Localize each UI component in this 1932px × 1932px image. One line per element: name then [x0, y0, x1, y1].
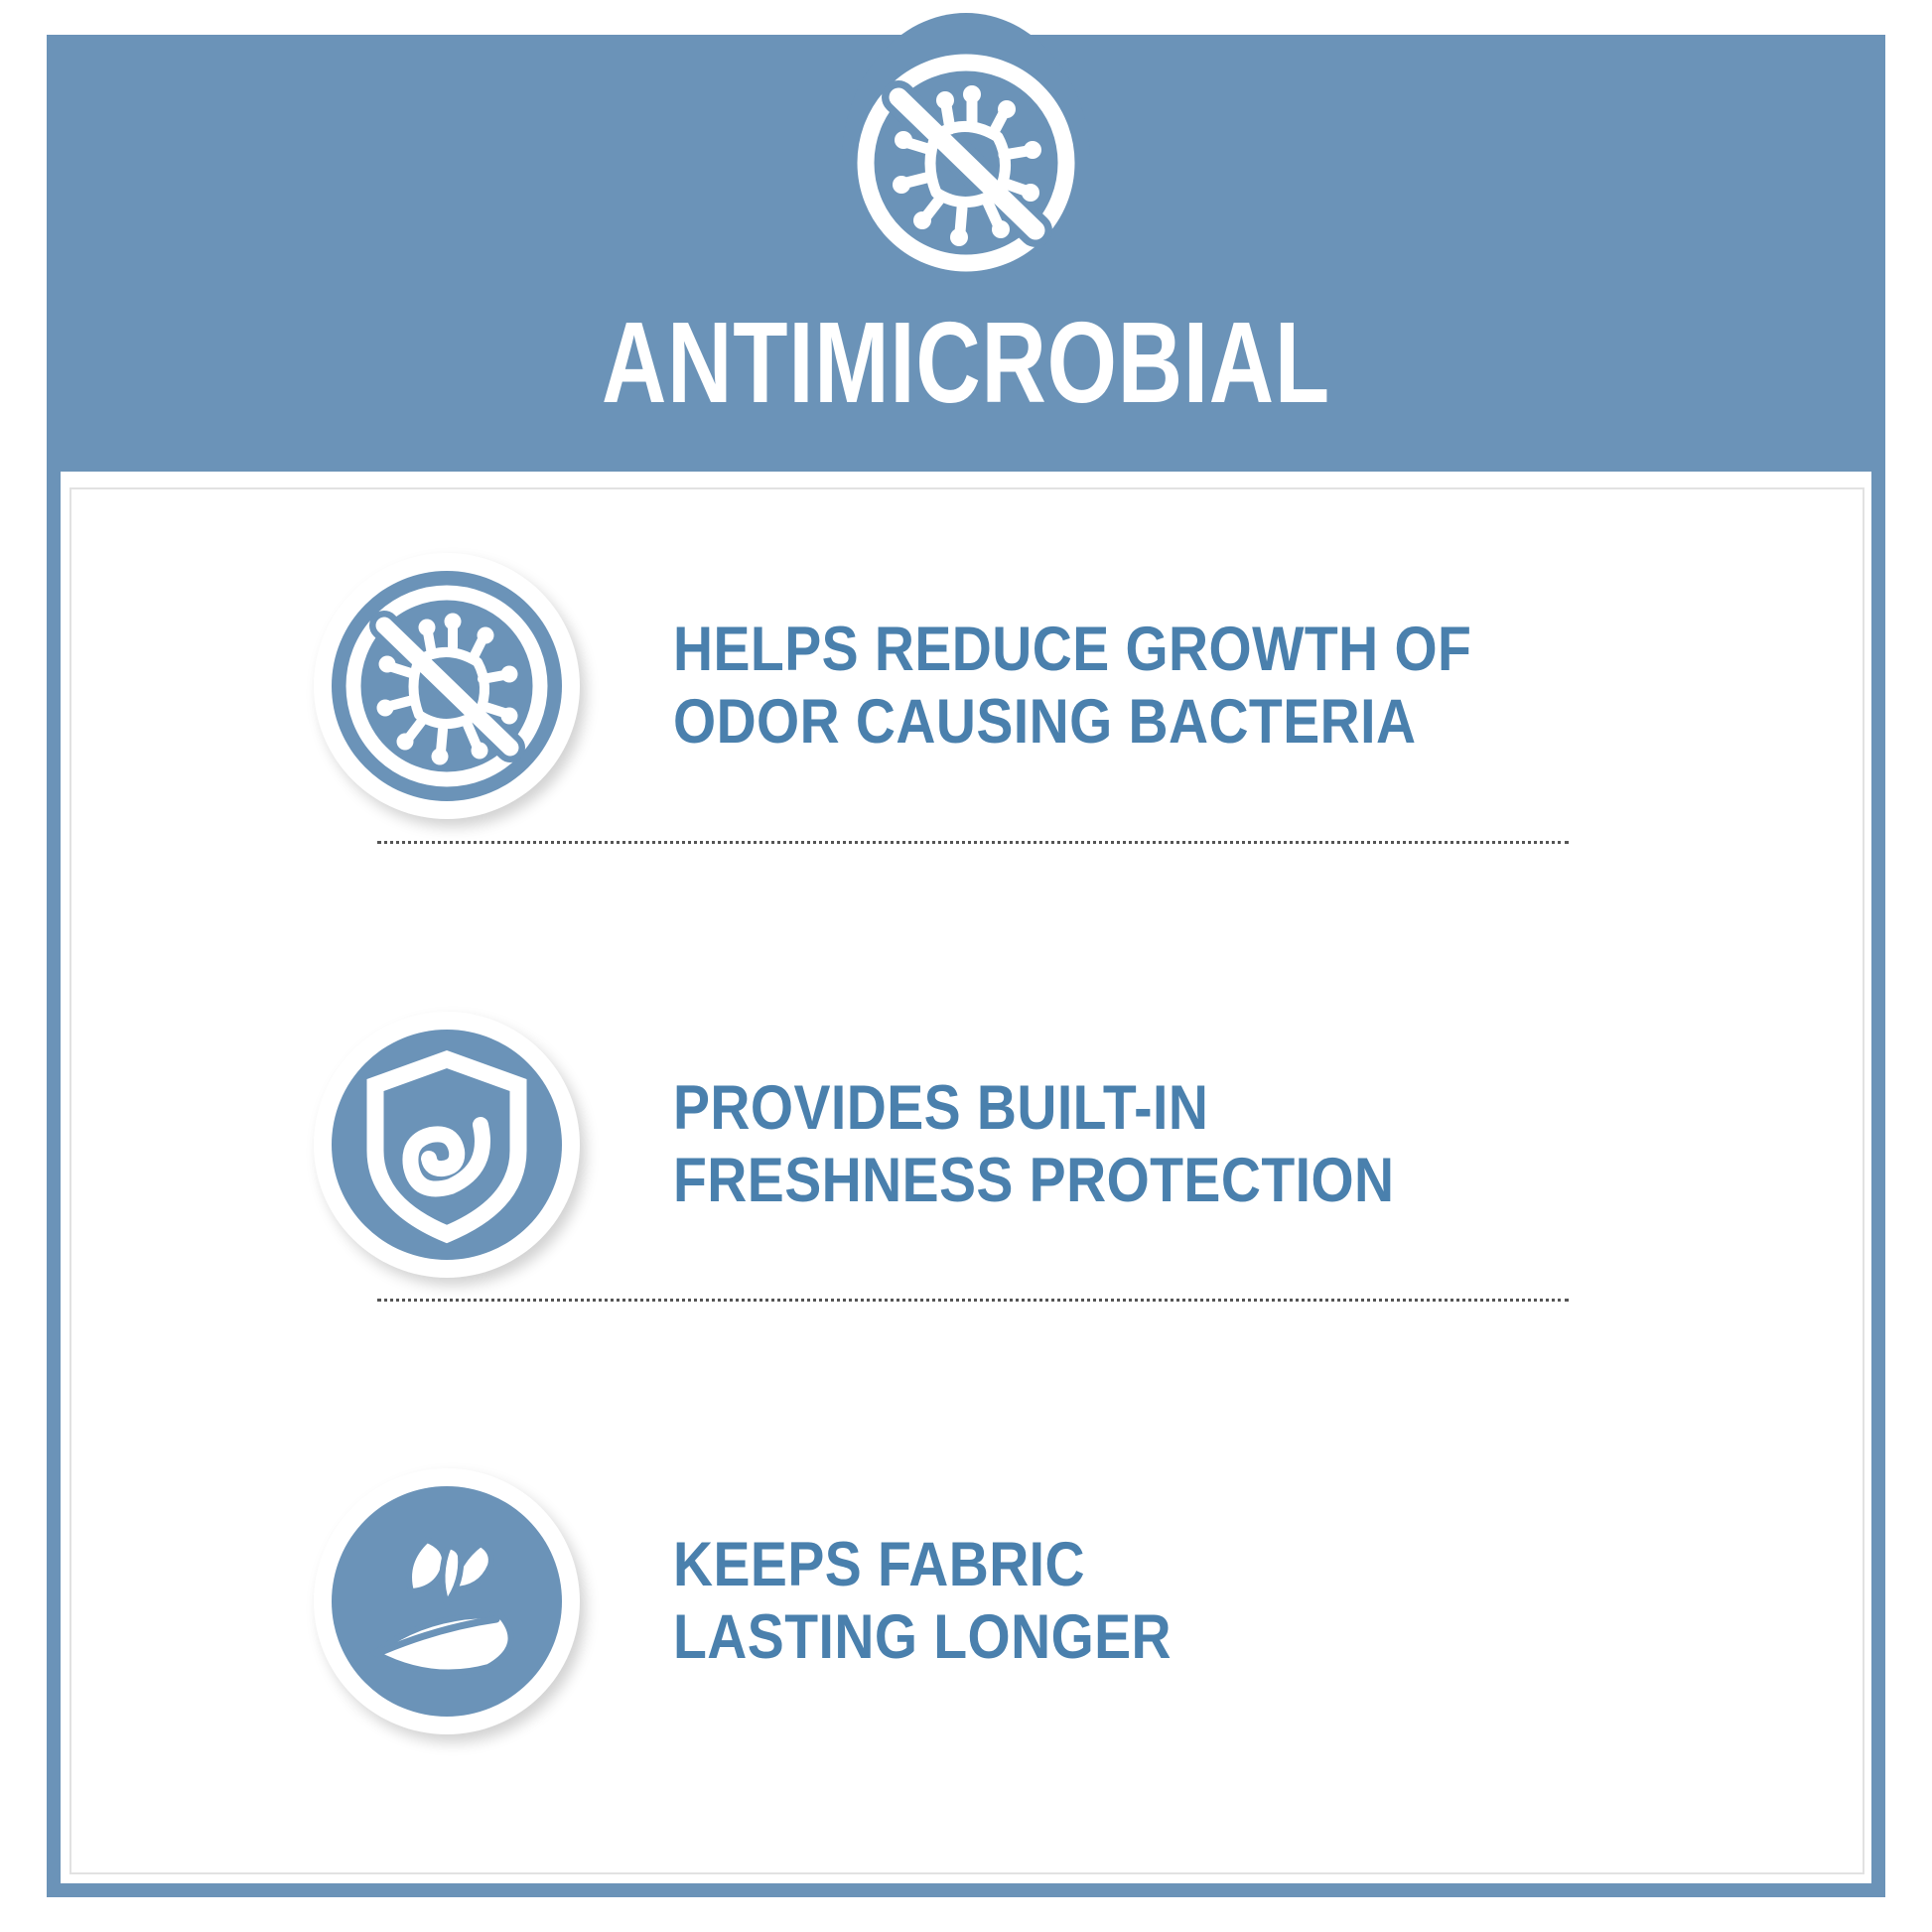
- icon-disc: [314, 1012, 580, 1278]
- feature-row: PROVIDES BUILT-IN FRESHNESS PROTECTION: [71, 996, 1863, 1294]
- icon-disc: [314, 553, 580, 819]
- row-divider: [377, 1299, 1569, 1302]
- shield-freshness-icon: [332, 1030, 562, 1260]
- feature-label: HELPS REDUCE GROWTH OF ODOR CAUSING BACT…: [673, 614, 1471, 759]
- feature-label: KEEPS FABRIC LASTING LONGER: [673, 1529, 1172, 1674]
- feature-icon-wrapper: [298, 1452, 596, 1750]
- no-bacteria-icon: [332, 571, 562, 801]
- leaves-icon: [332, 1486, 562, 1717]
- no-germs-icon: [847, 44, 1085, 282]
- header-banner: ANTIMICROBIAL: [47, 35, 1885, 472]
- feature-row: HELPS REDUCE GROWTH OF ODOR CAUSING BACT…: [71, 537, 1863, 835]
- feature-label: PROVIDES BUILT-IN FRESHNESS PROTECTION: [673, 1072, 1395, 1217]
- feature-icon-wrapper: [298, 537, 596, 835]
- icon-disc: [314, 1468, 580, 1734]
- feature-icon-wrapper: [298, 996, 596, 1294]
- page-title: ANTIMICROBIAL: [249, 305, 1684, 420]
- feature-row: KEEPS FABRIC LASTING LONGER: [71, 1452, 1863, 1750]
- infographic-page: ANTIMICROBIAL: [0, 0, 1932, 1932]
- row-divider: [377, 841, 1569, 844]
- features-card: HELPS REDUCE GROWTH OF ODOR CAUSING BACT…: [69, 487, 1864, 1874]
